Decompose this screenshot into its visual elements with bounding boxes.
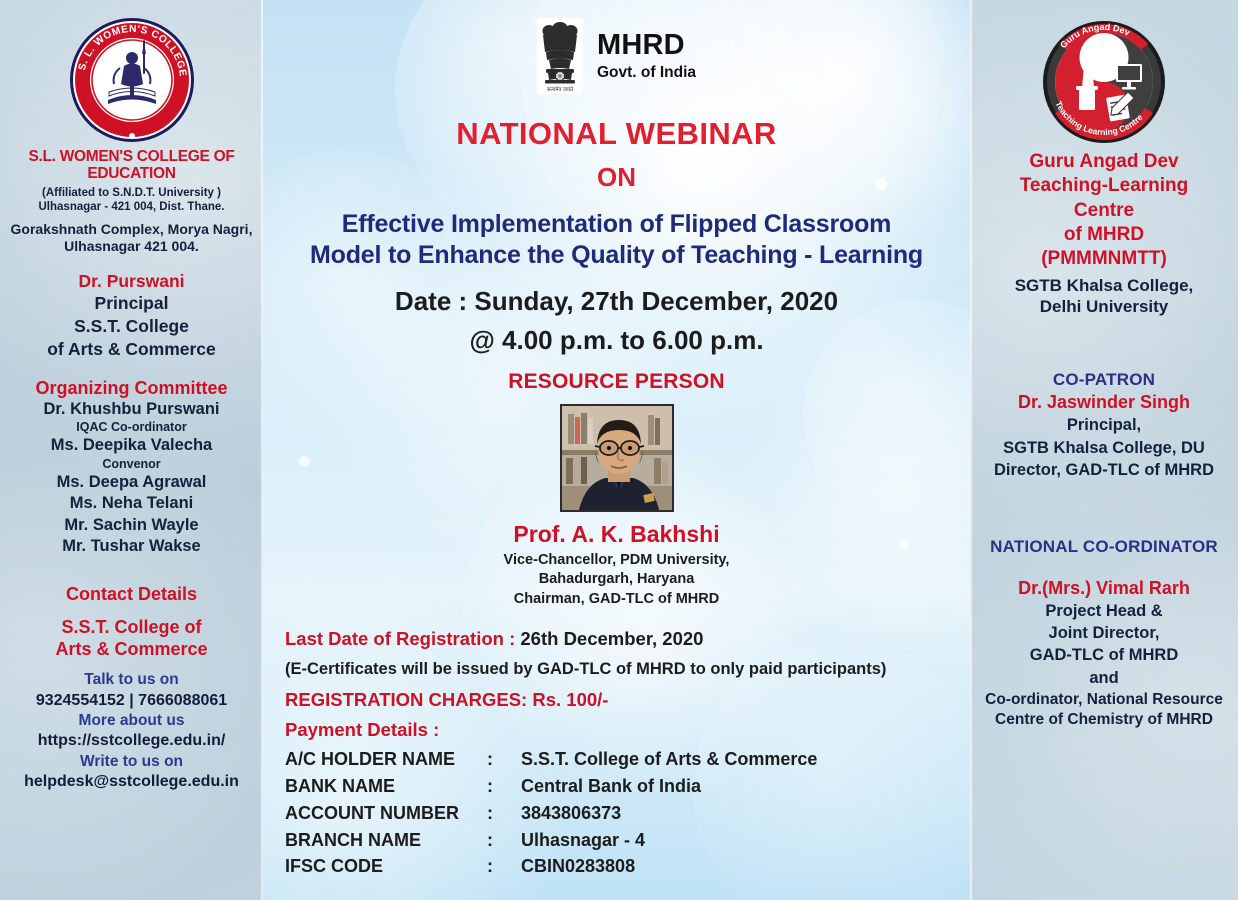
row-value: 3843806373 <box>521 800 817 827</box>
centre-line-1: Guru Angad Dev <box>976 150 1232 174</box>
member-role: Convenor <box>6 457 257 472</box>
speaker-photo-wrapper <box>263 404 970 512</box>
address-line-1: Gorakshnath Complex, Morya Nagri, <box>6 221 257 238</box>
row-value: S.S.T. College of Arts & Commerce <box>521 747 817 774</box>
svg-text:सत्यमेव जयते: सत्यमेव जयते <box>547 86 574 93</box>
nc-role-5: Co-ordinator, National Resource <box>976 690 1232 710</box>
centre-line-2: Teaching-Learning <box>976 174 1232 198</box>
principal-role: Principal <box>6 292 257 315</box>
ministry-subtitle: Govt. of India <box>597 64 696 82</box>
row-separator: : <box>487 854 521 881</box>
gad-host-institution: SGTB Khalsa College, Delhi University <box>976 275 1232 319</box>
right-sidebar: Guru Angad Dev Teaching Learning Centre … <box>970 0 1238 900</box>
contact-org-line-1: S.S.T. College of <box>6 616 257 638</box>
sl-womens-college-seal-icon: S. L. WOMEN'S COLLEGE OF EDUCATION <box>68 16 196 144</box>
nc-role-2: Joint Director, <box>976 623 1232 644</box>
centre-line-4: of MHRD <box>976 223 1232 247</box>
speaker-aff-line-2: Bahadurgarh, Haryana <box>263 570 970 589</box>
row-key: BANK NAME <box>285 774 487 801</box>
row-separator: : <box>487 774 521 801</box>
co-patron-name: Dr. Jaswinder Singh <box>976 391 1232 414</box>
co-patron-role-1: Principal, <box>976 415 1232 436</box>
registration-charges: REGISTRATION CHARGES: Rs. 100/- <box>285 689 970 711</box>
co-patron-role-2: SGTB Khalsa College, DU <box>976 438 1232 459</box>
principal-college-line-1: S.S.T. College <box>6 315 257 338</box>
speaker-photo <box>560 404 674 512</box>
member-role: IQAC Co-ordinator <box>6 420 257 435</box>
speaker-name: Prof. A. K. Bakhshi <box>263 521 970 548</box>
table-row: BRANCH NAME : Ulhasnagar - 4 <box>285 827 817 854</box>
co-patron-role-3: Director, GAD-TLC of MHRD <box>976 460 1232 481</box>
on-word: ON <box>263 162 970 193</box>
row-separator: : <box>487 827 521 854</box>
contact-org-line-2: Arts & Commerce <box>6 638 257 660</box>
table-row: BANK NAME : Central Bank of India <box>285 774 817 801</box>
member-name: Dr. Khushbu Purswani <box>6 399 257 420</box>
table-row: A/C HOLDER NAME : S.S.T. College of Arts… <box>285 747 817 774</box>
phone-value[interactable]: 9324554152 | 7666088061 <box>6 691 257 712</box>
row-key: BRANCH NAME <box>285 827 487 854</box>
row-value: Ulhasnagar - 4 <box>521 827 817 854</box>
row-separator: : <box>487 747 521 774</box>
event-type-title: NATIONAL WEBINAR <box>263 116 970 152</box>
national-coordinator-name: Dr.(Mrs.) Vimal Rarh <box>976 577 1232 600</box>
topic-line-1: Effective Implementation of Flipped Clas… <box>263 209 970 240</box>
speaker-affiliation: Vice-Chancellor, PDM University, Bahadur… <box>263 551 970 609</box>
website-label: More about us <box>6 711 257 731</box>
organizing-committee-heading: Organizing Committee <box>6 377 257 399</box>
gad-centre-name: Guru Angad Dev Teaching-Learning Centre … <box>976 150 1232 272</box>
webinar-topic: Effective Implementation of Flipped Clas… <box>263 209 970 270</box>
event-date: Date : Sunday, 27th December, 2020 <box>263 286 970 317</box>
table-row: ACCOUNT NUMBER : 3843806373 <box>285 800 817 827</box>
speaker-portrait-image <box>562 406 674 512</box>
india-national-emblem-icon: सत्यमेव जयते <box>537 18 583 94</box>
email-link[interactable]: helpdesk@sstcollege.edu.in <box>6 772 257 793</box>
gad-tlc-logo-icon: Guru Angad Dev Teaching Learning Centre <box>1042 20 1166 144</box>
affiliation-line-1: (Affiliated to S.N.D.T. University ) <box>6 186 257 200</box>
college-affiliation: (Affiliated to S.N.D.T. University ) Ulh… <box>6 186 257 214</box>
left-sidebar: S. L. WOMEN'S COLLEGE OF EDUCATION S.L. … <box>0 0 263 900</box>
email-label: Write to us on <box>6 752 257 772</box>
resource-person-label: RESOURCE PERSON <box>263 370 970 394</box>
committee-member: Dr. Khushbu Purswani IQAC Co-ordinator <box>6 399 257 435</box>
national-coordinator-heading: NATIONAL CO-ORDINATOR <box>976 537 1232 557</box>
college-address: Gorakshnath Complex, Morya Nagri, Ulhasn… <box>6 221 257 255</box>
main-content: सत्यमेव जयते MHRD Govt. of India NATIONA… <box>263 0 970 900</box>
left-panel-divider <box>260 0 263 900</box>
row-key: ACCOUNT NUMBER <box>285 800 487 827</box>
ministry-name: MHRD <box>597 31 696 60</box>
nc-role-4: and <box>976 668 1232 689</box>
registration-block: Last Date of Registration : 26th Decembe… <box>285 627 970 881</box>
payment-details-title: Payment Details : <box>285 719 970 741</box>
webinar-poster: S. L. WOMEN'S COLLEGE OF EDUCATION S.L. … <box>0 0 1238 900</box>
member-name: Mr. Sachin Wayle <box>6 515 257 536</box>
member-name: Ms. Deepa Agrawal <box>6 472 257 493</box>
speaker-aff-line-3: Chairman, GAD-TLC of MHRD <box>263 590 970 609</box>
host-line-1: SGTB Khalsa College, <box>976 275 1232 297</box>
contact-details-block: Contact Details S.S.T. College of Arts &… <box>6 583 257 793</box>
row-value: CBIN0283808 <box>521 854 817 881</box>
centre-line-3: Centre <box>976 199 1232 223</box>
college-title: S.L. WOMEN'S COLLEGE OF EDUCATION <box>6 148 257 182</box>
principal-college-line-2: of Arts & Commerce <box>6 338 257 361</box>
contact-heading: Contact Details <box>6 583 257 605</box>
last-date-value: 26th December, 2020 <box>520 628 703 649</box>
member-name: Ms. Deepika Valecha <box>6 435 257 456</box>
speaker-aff-line-1: Vice-Chancellor, PDM University, <box>263 551 970 570</box>
table-row: IFSC CODE : CBIN0283808 <box>285 854 817 881</box>
co-patron-heading: CO-PATRON <box>976 370 1232 390</box>
co-patron-block: CO-PATRON Dr. Jaswinder Singh Principal,… <box>976 370 1232 481</box>
row-key: A/C HOLDER NAME <box>285 747 487 774</box>
topic-line-2: Model to Enhance the Quality of Teaching… <box>263 240 970 271</box>
row-value: Central Bank of India <box>521 774 817 801</box>
payment-details-table: A/C HOLDER NAME : S.S.T. College of Arts… <box>285 747 817 881</box>
principal-name: Dr. Purswani <box>6 271 257 292</box>
member-name: Mr. Tushar Wakse <box>6 536 257 557</box>
nc-role-3: GAD-TLC of MHRD <box>976 645 1232 666</box>
mhrd-header: सत्यमेव जयते MHRD Govt. of India <box>263 18 970 94</box>
centre-line-5: (PMMMNMTT) <box>976 247 1232 271</box>
right-panel-divider <box>970 0 973 900</box>
nc-role-1: Project Head & <box>976 601 1232 622</box>
phone-label: Talk to us on <box>6 670 257 690</box>
event-time: @ 4.00 p.m. to 6.00 p.m. <box>263 325 970 356</box>
row-key: IFSC CODE <box>285 854 487 881</box>
affiliation-line-2: Ulhasnagar - 421 004, Dist. Thane. <box>6 200 257 214</box>
nc-role-6: Centre of Chemistry of MHRD <box>976 710 1232 730</box>
host-line-2: Delhi University <box>976 296 1232 318</box>
principal-block: Dr. Purswani Principal S.S.T. College of… <box>6 271 257 360</box>
committee-member: Ms. Deepika Valecha Convenor <box>6 435 257 471</box>
mhrd-text: MHRD Govt. of India <box>597 31 696 82</box>
last-date-label: Last Date of Registration : <box>285 628 520 649</box>
member-name: Ms. Neha Telani <box>6 493 257 514</box>
last-date-of-registration: Last Date of Registration : 26th Decembe… <box>285 627 970 651</box>
national-coordinator-block: NATIONAL CO-ORDINATOR Dr.(Mrs.) Vimal Ra… <box>976 537 1232 730</box>
organizing-committee-block: Organizing Committee Dr. Khushbu Purswan… <box>6 377 257 558</box>
certificate-note: (E-Certificates will be issued by GAD-TL… <box>285 660 970 679</box>
website-link[interactable]: https://sstcollege.edu.in/ <box>6 731 257 752</box>
row-separator: : <box>487 800 521 827</box>
address-line-2: Ulhasnagar 421 004. <box>6 238 257 255</box>
